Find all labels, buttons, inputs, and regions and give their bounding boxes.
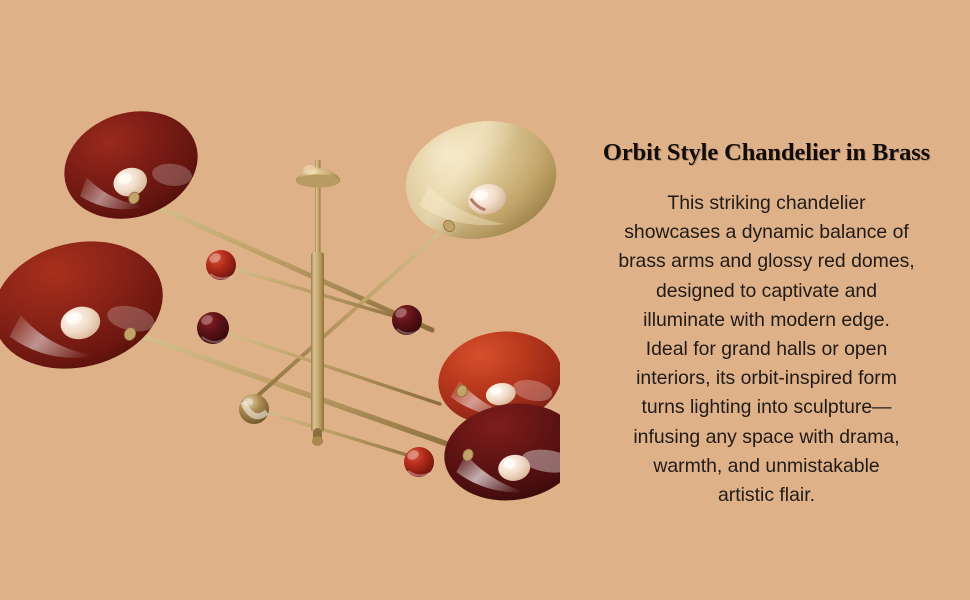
arm-mid-left xyxy=(124,330,470,452)
chandelier-stem xyxy=(311,160,324,446)
ball-red-lower xyxy=(404,447,434,477)
description-line: turns lighting into sculpture— xyxy=(581,393,953,422)
product-banner: Orbit Style Chandelier in Brass This str… xyxy=(0,0,970,600)
product-image xyxy=(0,0,560,600)
description-line: infusing any space with drama, xyxy=(581,423,953,452)
product-copy-block: Orbit Style Chandelier in Brass This str… xyxy=(563,0,970,600)
description-line: This striking chandelier xyxy=(581,189,953,218)
arm-upper-left xyxy=(128,194,432,330)
dome-top-left xyxy=(50,95,211,236)
description-line: artistic flair. xyxy=(581,481,953,510)
page-title: Orbit Style Chandelier in Brass xyxy=(603,140,930,167)
dome-brass-top-right xyxy=(395,107,560,252)
arm-counterweight-lower xyxy=(246,406,430,462)
ceiling-canopy xyxy=(296,165,340,188)
orbit-chandelier-illustration xyxy=(0,0,560,600)
description-line: warmth, and unmistakable xyxy=(581,452,953,481)
ball-red-upper xyxy=(206,250,236,280)
ball-maroon-right xyxy=(392,305,422,335)
description-line: interiors, its orbit-inspired form xyxy=(581,364,953,393)
description-line: brass arms and glossy red domes, xyxy=(581,247,953,276)
product-description: This striking chandelier showcases a dyn… xyxy=(581,189,953,510)
description-line: designed to captivate and xyxy=(581,277,953,306)
ball-maroon-left xyxy=(197,312,229,344)
description-line: showcases a dynamic balance of xyxy=(581,218,953,247)
description-line: Ideal for grand halls or open xyxy=(581,335,953,364)
dome-mid-left xyxy=(0,224,176,386)
ball-brass xyxy=(239,394,269,424)
description-line: illuminate with modern edge. xyxy=(581,306,953,335)
